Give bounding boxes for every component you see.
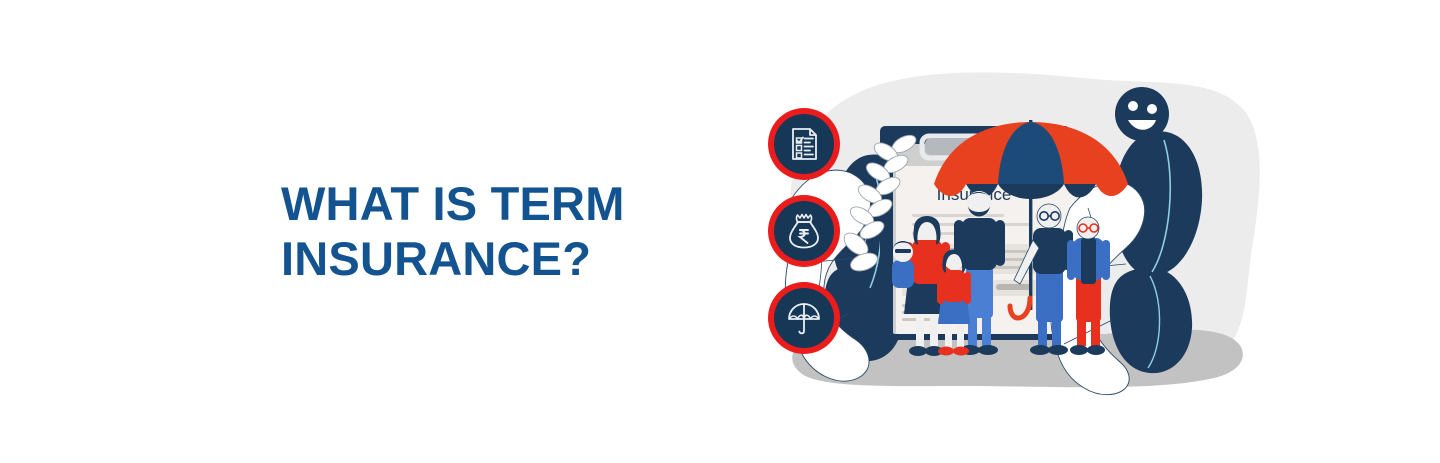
rupee-money-bag-icon bbox=[784, 211, 824, 251]
badge-umbrella[interactable] bbox=[768, 282, 840, 354]
daughter-arm-left bbox=[937, 272, 944, 304]
feature-badge-column bbox=[768, 108, 844, 358]
father-shirt bbox=[962, 218, 997, 270]
elderly-woman-arm-left bbox=[1067, 240, 1075, 280]
elderly-man-trousers bbox=[1036, 266, 1063, 322]
figure-baby bbox=[892, 241, 914, 288]
smiley-face-icon bbox=[1115, 87, 1169, 141]
badge-policy-document[interactable] bbox=[768, 108, 840, 180]
elderly-woman-shoe-right bbox=[1087, 345, 1105, 355]
daughter-arm-right bbox=[964, 272, 971, 304]
mother-shoe-left bbox=[909, 346, 927, 356]
baby-sunglasses bbox=[895, 249, 911, 253]
elderly-woman-vest bbox=[1081, 238, 1096, 284]
elderly-woman-arm-right bbox=[1102, 240, 1110, 280]
daughter-shoe-right bbox=[953, 347, 969, 356]
elderly-man-shirt bbox=[1033, 228, 1066, 274]
page-title: WHAT IS TERM INSURANCE? bbox=[281, 176, 751, 287]
badge-money-bag[interactable] bbox=[768, 195, 840, 267]
daughter-shoe-left bbox=[938, 347, 954, 356]
father-arm-right bbox=[995, 220, 1005, 266]
father-shoe-right bbox=[978, 345, 998, 355]
checklist-document-icon bbox=[784, 124, 824, 164]
daughter-top bbox=[943, 270, 965, 302]
umbrella-icon bbox=[784, 298, 824, 338]
elderly-man-shoe-left bbox=[1030, 345, 1050, 355]
elderly-man-shoe-right bbox=[1048, 345, 1068, 355]
headline-block: WHAT IS TERM INSURANCE? bbox=[281, 176, 751, 287]
baby-body bbox=[892, 260, 914, 288]
elderly-woman-shoe-left bbox=[1070, 345, 1088, 355]
term-insurance-banner: WHAT IS TERM INSURANCE? Te bbox=[0, 0, 1440, 463]
